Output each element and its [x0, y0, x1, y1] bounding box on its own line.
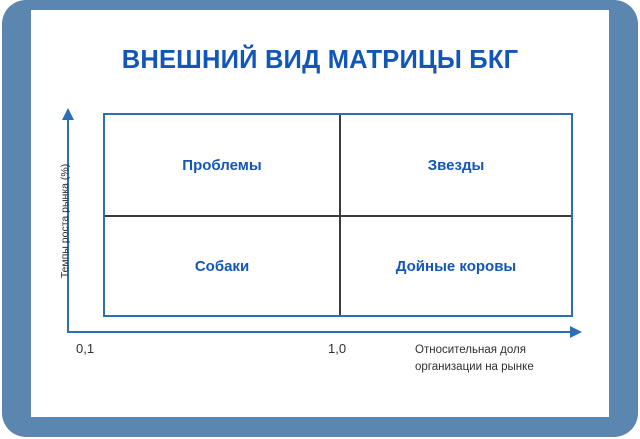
quadrant-dogs[interactable]: Собаки	[105, 217, 339, 315]
x-axis-label: Относительная доля организации на рынке	[415, 342, 585, 376]
x-axis-label-line-2: организации на рынке	[415, 359, 585, 376]
y-axis-label: Темпы роста рынка (%)	[59, 111, 71, 331]
x-axis-label-line-1: Относительная доля	[415, 342, 585, 359]
x-axis-line	[67, 331, 572, 333]
x-tick-label-low: 0,1	[76, 341, 94, 356]
x-tick-label-high: 1,0	[328, 341, 346, 356]
quadrant-question-marks[interactable]: Проблемы	[105, 115, 339, 215]
quadrant-cash-cows[interactable]: Дойные коровы	[341, 217, 571, 315]
page-title: ВНЕШНИЙ ВИД МАТРИЦЫ БКГ	[31, 46, 609, 75]
arrow-right-icon	[570, 326, 582, 338]
slide-canvas: ВНЕШНИЙ ВИД МАТРИЦЫ БКГ Темпы роста рынк…	[0, 0, 640, 439]
bcg-matrix: Проблемы Звезды Собаки Дойные коровы	[103, 113, 573, 317]
quadrant-stars[interactable]: Звезды	[341, 115, 571, 215]
